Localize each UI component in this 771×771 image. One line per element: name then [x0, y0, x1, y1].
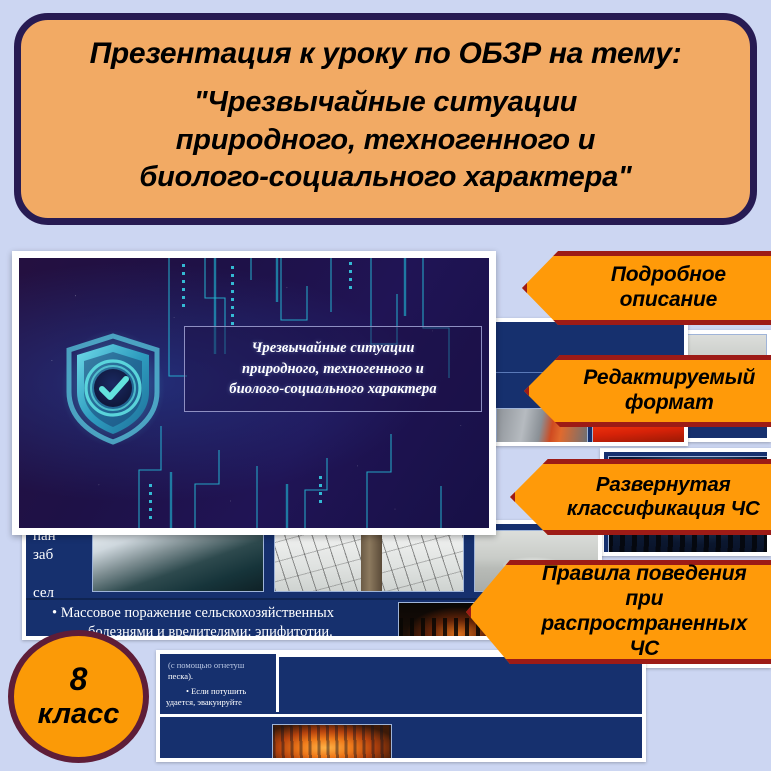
deck-slide-body: (с помощью огнетуш песка). • Если потуши… — [160, 654, 642, 758]
banner4-line4: ЧС — [629, 637, 659, 660]
grade-badge[interactable]: 8 класс — [8, 630, 149, 763]
deck-photo-flames — [272, 724, 392, 758]
banner1-line2: описание — [620, 288, 717, 311]
title-line-2: природного, техногенного и — [242, 361, 424, 377]
grade-number: 8 — [70, 663, 88, 695]
banner4-line2: при — [625, 587, 663, 610]
banner-detailed-description[interactable]: Подробное описание — [522, 251, 771, 325]
main-slide-title-text: Чрезвычайные ситуации природного, техног… — [229, 338, 437, 400]
title-line-1: Чрезвычайные ситуации — [251, 340, 414, 356]
banner-label: Редактируемый формат — [549, 366, 755, 416]
banner4-line3: распространенных — [541, 612, 747, 635]
banner3-line2: классификация ЧС — [567, 497, 760, 520]
header-topic-title: "Чрезвычайные ситуации природного, техно… — [139, 84, 631, 196]
header-subject-line: Презентация к уроку по ОБЗР на тему: — [90, 37, 682, 71]
deck-bullet-massive-damage: • Массовое поражение сельскохозяйственны… — [52, 604, 334, 622]
banner2-line2: формат — [625, 391, 714, 414]
header-topic-line-1: "Чрезвычайные ситуации — [194, 86, 577, 118]
grade-word: класс — [38, 699, 120, 729]
main-slide-canvas: Чрезвычайные ситуации природного, техног… — [19, 258, 489, 528]
deck-photo-icy-wires — [274, 530, 464, 592]
banner-label: Развернутая классификация ЧС — [530, 473, 759, 521]
banner1-line1: Подробное — [611, 263, 726, 286]
title-line-3: биолого-социального характера — [229, 381, 437, 397]
deck-bullet-epiphytoty: болезнями и вредителями: эпифитотии. — [88, 623, 333, 636]
deck-photo-glacier — [92, 530, 264, 592]
deck-slide-fire-rules[interactable]: (с помощью огнетуш песка). • Если потуши… — [156, 650, 646, 762]
deck-text-sand: песка). — [168, 671, 193, 682]
header-topic-line-3: биолого-социального характера" — [139, 161, 631, 193]
banner-editable-format[interactable]: Редактируемый формат — [524, 355, 771, 427]
deck-text-evacuate: удается, эвакуируйте — [166, 697, 242, 708]
main-slide-title-box: Чрезвычайные ситуации природного, техног… — [184, 326, 482, 412]
deck-text-extinguisher: (с помощью огнетуш — [168, 660, 244, 671]
banner-label: Правила поведения при распространенных Ч… — [499, 562, 747, 661]
banner2-line1: Редактируемый — [583, 366, 755, 389]
poster-header: Презентация к уроку по ОБЗР на тему: "Чр… — [14, 13, 757, 225]
banner4-line1: Правила поведения — [542, 562, 747, 585]
banner3-line1: Развернутая — [596, 473, 731, 496]
shield-check-icon — [61, 330, 165, 446]
deck-text-zab: заб — [33, 546, 53, 565]
poster-canvas: не ечения. пюзов. пан заб сел • Мас — [0, 0, 771, 771]
header-topic-line-2: природного, техногенного и — [176, 124, 596, 156]
banner-label: Подробное описание — [576, 263, 726, 313]
banner-behaviour-rules[interactable]: Правила поведения при распространенных Ч… — [466, 560, 771, 664]
banner-detailed-classification[interactable]: Развернутая классификация ЧС — [510, 459, 771, 535]
main-title-slide[interactable]: Чрезвычайные ситуации природного, техног… — [12, 251, 496, 535]
deck-text-if-extinguish: • Если потушить — [186, 686, 246, 697]
